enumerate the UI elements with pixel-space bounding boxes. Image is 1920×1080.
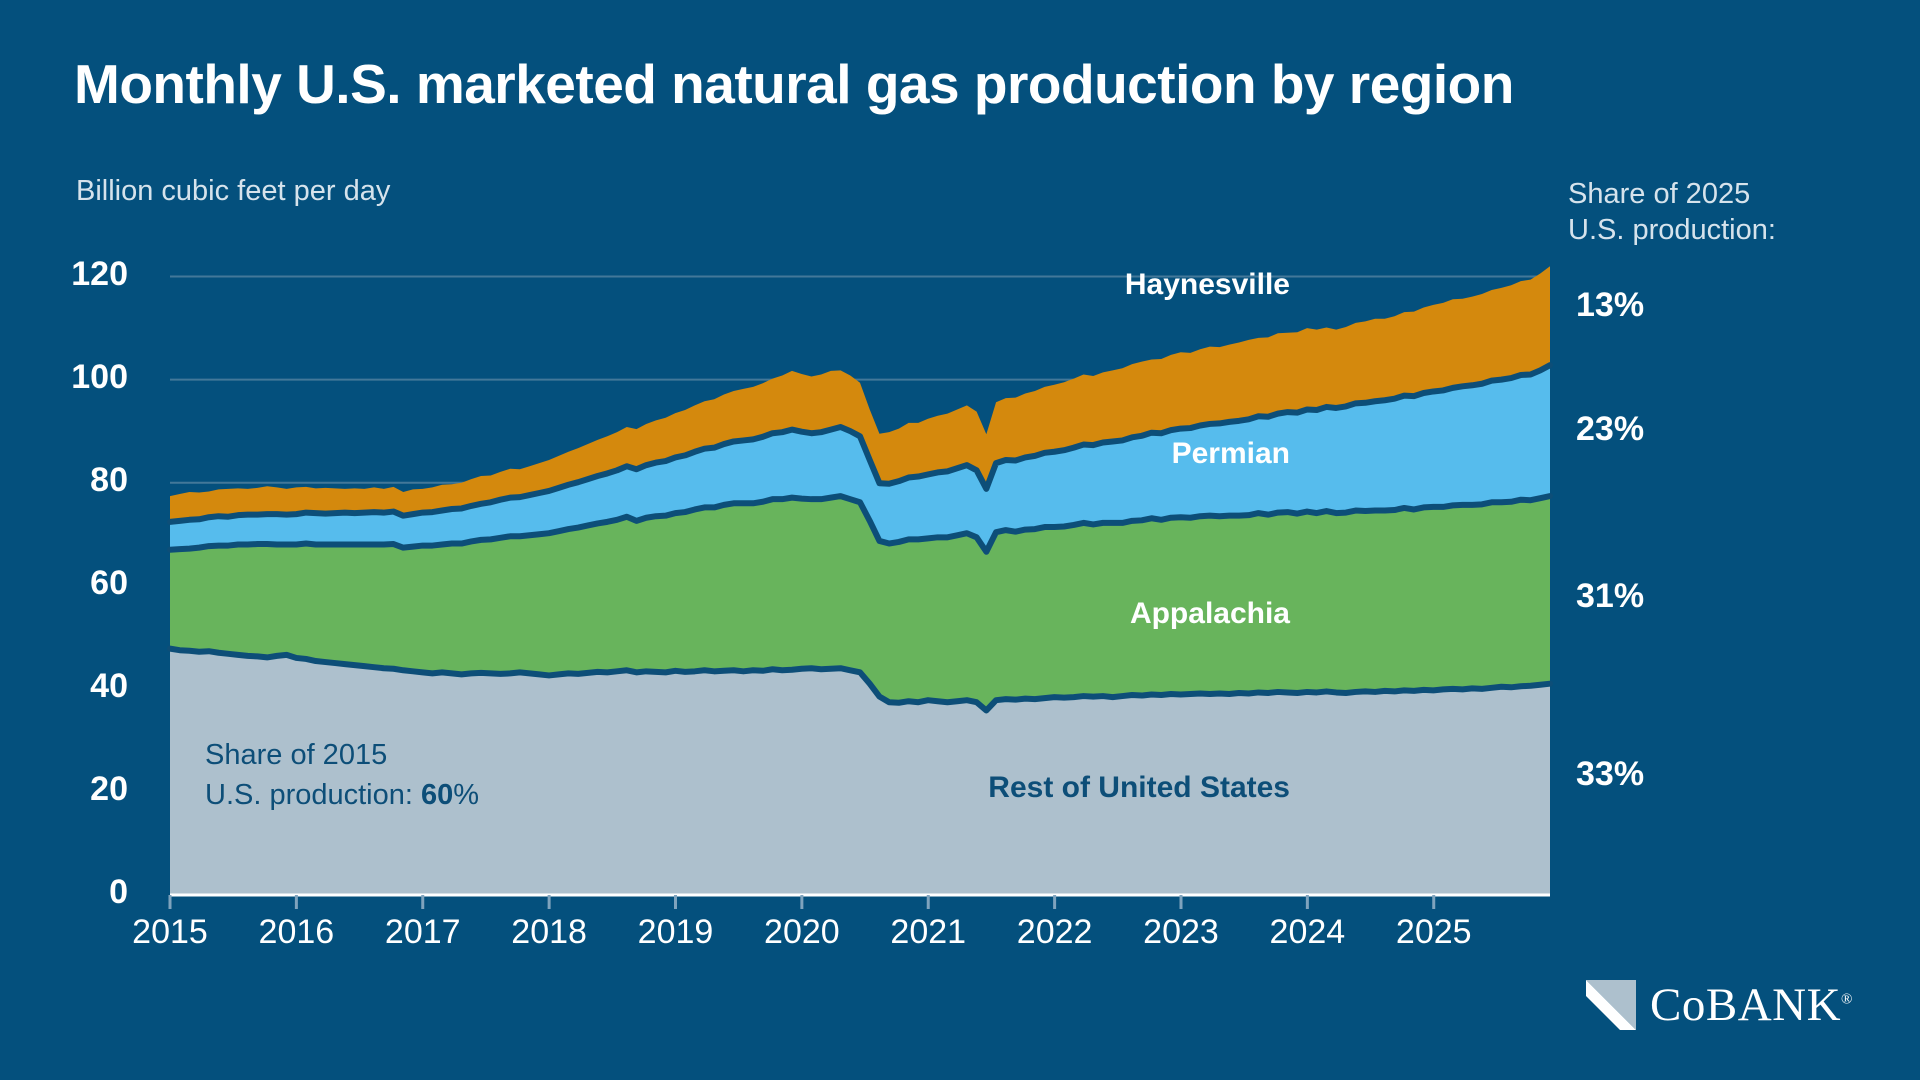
series-label-haynesville: Haynesville xyxy=(0,268,1290,302)
annotation-suffix: % xyxy=(453,779,479,811)
x-tick-label: 2023 xyxy=(1111,913,1251,952)
x-tick-label: 2024 xyxy=(1237,913,1377,952)
x-tick-label: 2021 xyxy=(858,913,998,952)
x-tick-label: 2015 xyxy=(100,913,240,952)
cobank-logo: CoBANK® xyxy=(1586,978,1853,1032)
y-tick-label: 40 xyxy=(18,667,128,706)
y-tick-label: 0 xyxy=(18,873,128,912)
y-tick-label: 100 xyxy=(18,358,128,397)
annotation-line1: Share of 2015 xyxy=(205,735,479,775)
series-label-appalachia: Appalachia xyxy=(0,597,1290,631)
x-tick-label: 2019 xyxy=(605,913,745,952)
annotation-line2: U.S. production: 60% xyxy=(205,775,479,815)
x-tick-label: 2016 xyxy=(226,913,366,952)
series-label-rest-of-united-states: Rest of United States xyxy=(0,771,1290,805)
x-tick-label: 2020 xyxy=(732,913,872,952)
share-value-permian: 23% xyxy=(1576,410,1644,449)
annotation-share-2015: Share of 2015 U.S. production: 60% xyxy=(205,735,479,815)
cobank-logo-mark xyxy=(1586,980,1636,1030)
share-value-rest-of-united-states: 33% xyxy=(1576,755,1644,794)
share-value-haynesville: 13% xyxy=(1576,286,1644,325)
series-label-permian: Permian xyxy=(0,437,1290,471)
x-tick-label: 2022 xyxy=(985,913,1125,952)
share-value-appalachia: 31% xyxy=(1576,577,1644,616)
annotation-prefix: U.S. production: xyxy=(205,779,421,811)
cobank-logo-text: CoBANK® xyxy=(1650,978,1853,1032)
annotation-value: 60 xyxy=(421,779,453,811)
x-tick-label: 2025 xyxy=(1364,913,1504,952)
x-tick-label: 2018 xyxy=(479,913,619,952)
x-tick-label: 2017 xyxy=(353,913,493,952)
